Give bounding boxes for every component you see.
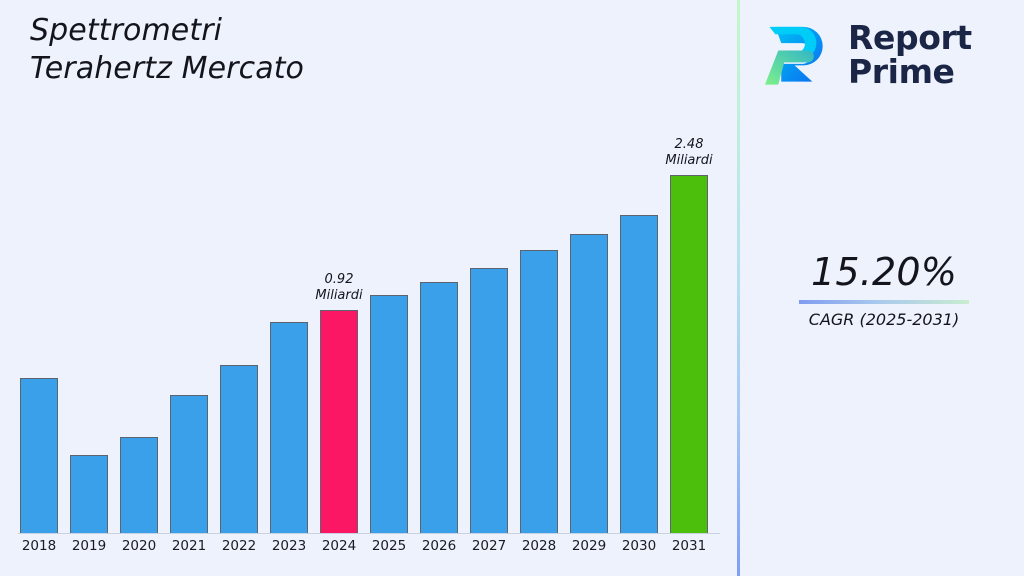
bar-2031	[670, 175, 708, 533]
bar-2023	[270, 322, 308, 533]
cagr-label: CAGR (2025-2031)	[756, 310, 1012, 329]
bar-chart-plot-area: 0.92 Miliardi2.48 Miliardi	[0, 0, 738, 534]
brand-name: Report Prime	[848, 21, 972, 90]
x-axis-tick-labels: 2018201920202021202220232024202520262027…	[0, 538, 738, 572]
bar-2020	[120, 437, 158, 533]
side-panel: Report Prime 15.20% CAGR (2025-2031)	[740, 0, 1024, 576]
bar-2019	[70, 455, 108, 533]
chart-panel: Spettrometri Terahertz Mercato 0.92 Mili…	[0, 0, 738, 576]
report-prime-logo-icon	[762, 18, 836, 92]
cagr-divider-rule	[799, 300, 969, 304]
infographic-root: Spettrometri Terahertz Mercato 0.92 Mili…	[0, 0, 1024, 576]
bar-2030	[620, 215, 658, 533]
bar-2028	[520, 250, 558, 533]
bar-2027	[470, 268, 508, 533]
x-tick-2031: 2031	[659, 538, 719, 554]
brand-lockup: Report Prime	[762, 12, 1024, 98]
bar-2029	[570, 234, 608, 533]
cagr-block: 15.20% CAGR (2025-2031)	[756, 252, 1012, 329]
cagr-value: 15.20%	[756, 252, 1012, 294]
bar-2025	[370, 295, 408, 533]
bar-2026	[420, 282, 458, 533]
bar-2021	[170, 395, 208, 533]
bar-callout-forecast-year: 2.48 Miliardi	[629, 137, 749, 169]
bar-2024	[320, 310, 358, 533]
x-axis-line	[18, 533, 720, 534]
bar-2018	[20, 378, 58, 533]
bar-2022	[220, 365, 258, 533]
